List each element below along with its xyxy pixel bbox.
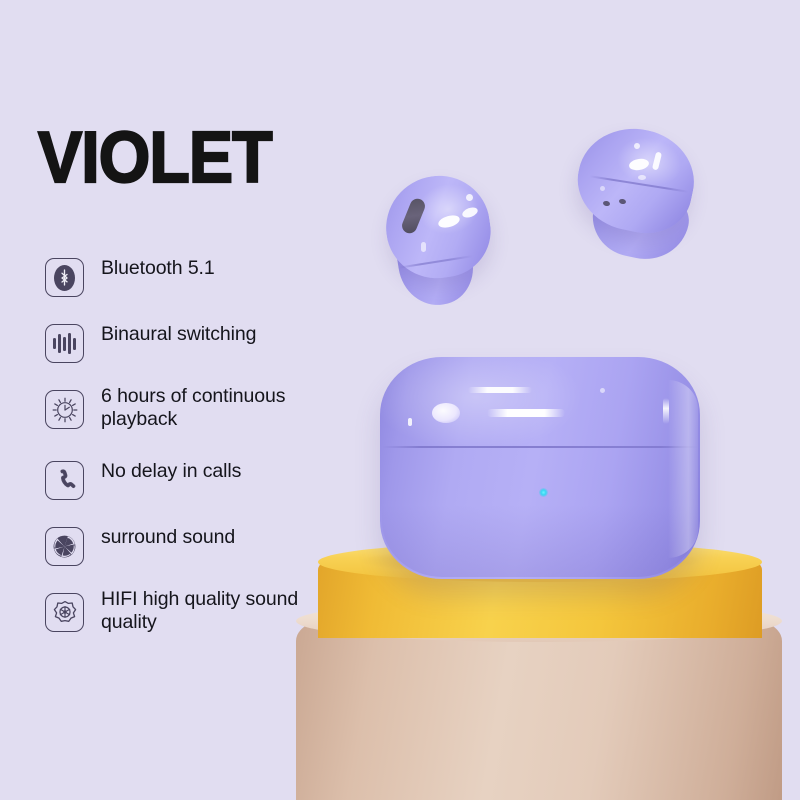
feature-item-surround: surround sound <box>45 527 346 566</box>
hifi-rosette-glyph <box>52 600 78 626</box>
feature-label: Bluetooth 5.1 <box>101 257 346 280</box>
phone-handset-icon <box>45 461 84 500</box>
feature-label: HIFI high quality sound quality <box>101 588 346 634</box>
charging-case-highlight-streak-1 <box>468 387 532 393</box>
earbud-right-highlight-3 <box>634 143 640 149</box>
bluetooth-icon-pill <box>54 265 75 291</box>
clock-icon <box>45 390 84 429</box>
charging-case-lid-seam <box>382 446 698 448</box>
camera-aperture-glyph <box>52 534 77 559</box>
audio-waveform-icon <box>45 324 84 363</box>
feature-label: No delay in calls <box>101 460 346 483</box>
earbud-right-highlight-5 <box>600 186 605 191</box>
bluetooth-glyph <box>59 269 70 286</box>
charging-case-highlight-dot-1 <box>408 418 412 426</box>
feature-item-binaural: Binaural switching <box>45 324 346 363</box>
charging-case-highlight-right <box>663 398 669 424</box>
charging-case-highlight-oval <box>432 403 460 423</box>
feature-label: surround sound <box>101 526 346 549</box>
feature-item-hifi: HIFI high quality sound quality <box>45 593 346 634</box>
feature-item-calls: No delay in calls <box>45 461 346 500</box>
bluetooth-icon <box>45 258 84 297</box>
charging-case-led-indicator <box>539 488 548 497</box>
charging-case-highlight-streak-2 <box>487 409 565 417</box>
camera-aperture-icon <box>45 527 84 566</box>
feature-item-bluetooth: Bluetooth 5.1 <box>45 258 346 297</box>
earbud-left-highlight-4 <box>421 242 426 252</box>
charging-case-edge-highlight <box>668 380 698 558</box>
feature-label: 6 hours of continuous playback <box>101 385 346 431</box>
clock-glyph <box>52 397 78 423</box>
earbud-right-highlight-4 <box>638 175 646 180</box>
page-title: VIOLET <box>38 122 272 194</box>
product-banner: VIOLET Bluetooth 5.1 Binaural switching <box>0 0 800 800</box>
charging-case-shading <box>382 505 698 577</box>
podium-base-cylinder <box>296 619 782 800</box>
feature-item-playback: 6 hours of continuous playback <box>45 390 346 431</box>
charging-case-highlight-dot-2 <box>600 388 605 393</box>
feature-label: Binaural switching <box>101 323 346 346</box>
hifi-rosette-icon <box>45 593 84 632</box>
audio-waveform-bars <box>53 333 75 355</box>
earbud-left-highlight-3 <box>466 194 473 201</box>
phone-handset-glyph <box>53 469 77 493</box>
